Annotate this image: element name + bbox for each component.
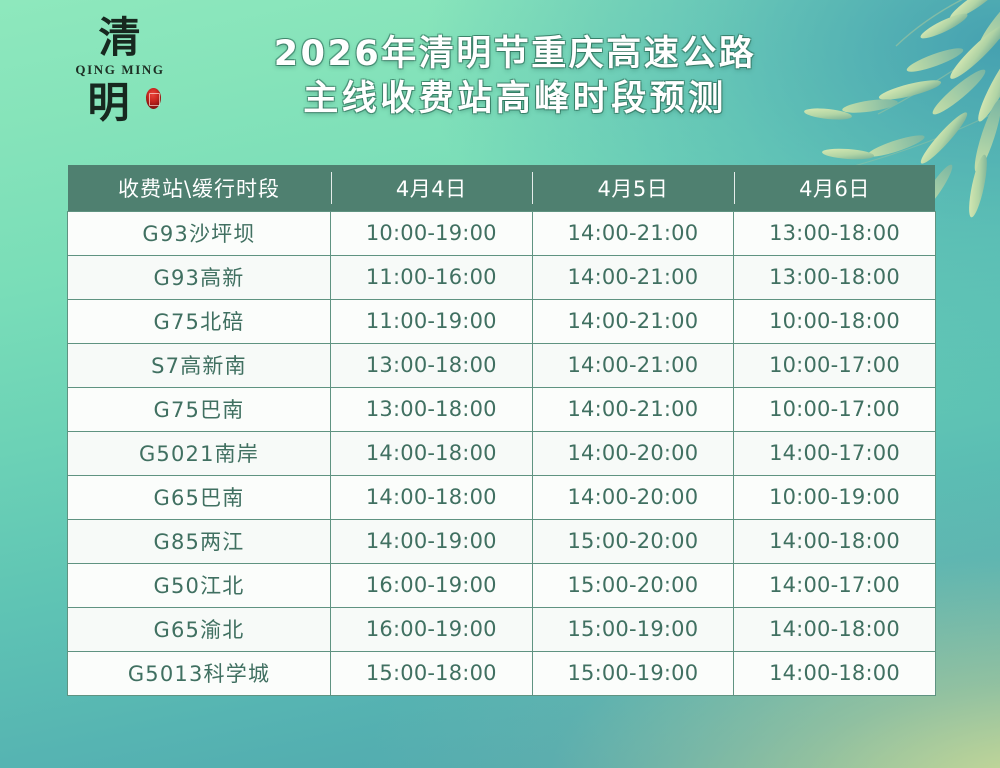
cell-station: G5021南岸 [68, 431, 331, 475]
cell-day2: 14:00-21:00 [532, 387, 734, 431]
cell-day2: 14:00-20:00 [532, 475, 734, 519]
logo-char-qing: 清 [62, 16, 178, 60]
table-row: S7高新南 13:00-18:00 14:00-21:00 10:00-17:0… [68, 343, 936, 387]
logo-bottom-group: 明 [62, 79, 178, 129]
cell-station: G75巴南 [68, 387, 331, 431]
schedule-table: 收费站\缓行时段 4月4日 4月5日 4月6日 G93沙坪坝 10:00-19:… [67, 165, 936, 696]
page-title-line2: 主线收费站高峰时段预测 [190, 77, 840, 122]
cell-station: G50江北 [68, 563, 331, 607]
cell-station: G5013科学城 [68, 651, 331, 695]
cell-day3: 14:00-18:00 [734, 607, 936, 651]
cell-station: G65渝北 [68, 607, 331, 651]
logo-latin-text: QING MING [62, 62, 178, 78]
column-header-day2: 4月5日 [532, 165, 734, 211]
cell-station: G75北碚 [68, 299, 331, 343]
table-body: G93沙坪坝 10:00-19:00 14:00-21:00 13:00-18:… [68, 211, 936, 695]
cell-day1: 14:00-18:00 [331, 475, 533, 519]
cell-day1: 11:00-19:00 [331, 299, 533, 343]
cell-station: G85两江 [68, 519, 331, 563]
table-row: G75巴南 13:00-18:00 14:00-21:00 10:00-17:0… [68, 387, 936, 431]
qingming-logo: 清 QING MING 明 [62, 16, 178, 146]
cell-day3: 14:00-18:00 [734, 651, 936, 695]
cell-day2: 15:00-19:00 [532, 651, 734, 695]
cell-day2: 15:00-20:00 [532, 519, 734, 563]
column-header-day1: 4月4日 [331, 165, 533, 211]
cell-day2: 14:00-20:00 [532, 431, 734, 475]
table-row: G93高新 11:00-16:00 14:00-21:00 13:00-18:0… [68, 255, 936, 299]
table-row: G50江北 16:00-19:00 15:00-20:00 14:00-17:0… [68, 563, 936, 607]
cell-day1: 16:00-19:00 [331, 563, 533, 607]
table-row: G5013科学城 15:00-18:00 15:00-19:00 14:00-1… [68, 651, 936, 695]
table-header: 收费站\缓行时段 4月4日 4月5日 4月6日 [68, 165, 936, 211]
cell-day3: 10:00-17:00 [734, 387, 936, 431]
table-row: G85两江 14:00-19:00 15:00-20:00 14:00-18:0… [68, 519, 936, 563]
cell-day2: 15:00-20:00 [532, 563, 734, 607]
cell-station: G65巴南 [68, 475, 331, 519]
column-header-day3: 4月6日 [734, 165, 936, 211]
page-title: 2026年清明节重庆高速公路 主线收费站高峰时段预测 [190, 32, 840, 122]
cell-day1: 15:00-18:00 [331, 651, 533, 695]
table-header-row: 收费站\缓行时段 4月4日 4月5日 4月6日 [68, 165, 936, 211]
cell-day2: 14:00-21:00 [532, 211, 734, 255]
cell-day2: 14:00-21:00 [532, 255, 734, 299]
cell-day1: 16:00-19:00 [331, 607, 533, 651]
cell-day3: 10:00-19:00 [734, 475, 936, 519]
schedule-table-wrapper: 收费站\缓行时段 4月4日 4月5日 4月6日 G93沙坪坝 10:00-19:… [67, 165, 935, 696]
cell-day1: 13:00-18:00 [331, 387, 533, 431]
cell-day1: 11:00-16:00 [331, 255, 533, 299]
poster-canvas: 清 QING MING 明 2026年清明节重庆高速公路 主线收费站高峰时段预测… [0, 0, 1000, 768]
column-header-station: 收费站\缓行时段 [68, 165, 331, 211]
cell-day3: 13:00-18:00 [734, 211, 936, 255]
cell-day3: 14:00-17:00 [734, 563, 936, 607]
cell-day3: 14:00-18:00 [734, 519, 936, 563]
cell-day1: 14:00-18:00 [331, 431, 533, 475]
table-row: G65渝北 16:00-19:00 15:00-19:00 14:00-18:0… [68, 607, 936, 651]
cell-day2: 15:00-19:00 [532, 607, 734, 651]
cell-day3: 14:00-17:00 [734, 431, 936, 475]
cell-day2: 14:00-21:00 [532, 343, 734, 387]
red-seal-icon [146, 88, 161, 109]
cell-station: G93沙坪坝 [68, 211, 331, 255]
cell-day1: 13:00-18:00 [331, 343, 533, 387]
table-row: G75北碚 11:00-19:00 14:00-21:00 10:00-18:0… [68, 299, 936, 343]
cell-day2: 14:00-21:00 [532, 299, 734, 343]
page-title-line1: 2026年清明节重庆高速公路 [190, 32, 840, 77]
cell-day1: 10:00-19:00 [331, 211, 533, 255]
table-row: G65巴南 14:00-18:00 14:00-20:00 10:00-19:0… [68, 475, 936, 519]
cell-station: G93高新 [68, 255, 331, 299]
cell-station: S7高新南 [68, 343, 331, 387]
table-row: G5021南岸 14:00-18:00 14:00-20:00 14:00-17… [68, 431, 936, 475]
cell-day3: 10:00-17:00 [734, 343, 936, 387]
cell-day3: 13:00-18:00 [734, 255, 936, 299]
cell-day3: 10:00-18:00 [734, 299, 936, 343]
table-row: G93沙坪坝 10:00-19:00 14:00-21:00 13:00-18:… [68, 211, 936, 255]
cell-day1: 14:00-19:00 [331, 519, 533, 563]
